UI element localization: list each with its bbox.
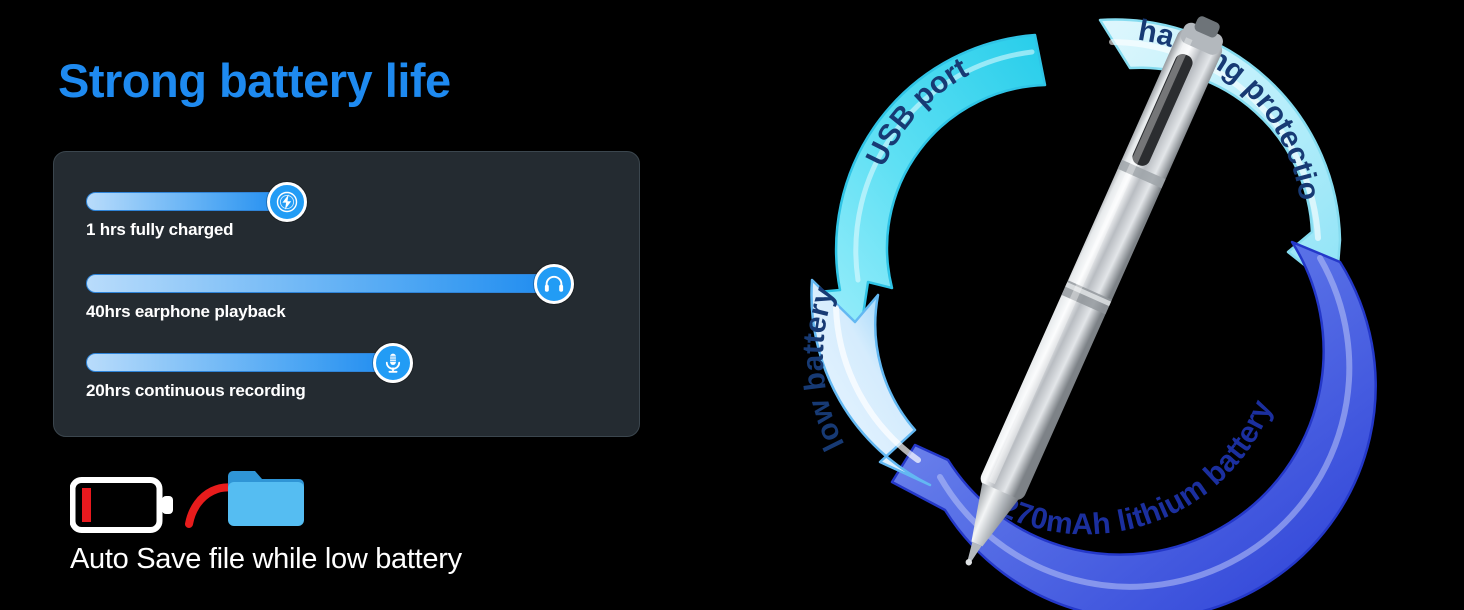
low-battery-segment: low battery — [797, 280, 930, 485]
poster-canvas: Strong battery life 1 hrs fully charged — [0, 0, 1464, 600]
slider-track-fully-charged[interactable] — [86, 192, 286, 211]
folder-icon — [226, 466, 306, 537]
charging-protection-label: charging protection — [740, 0, 1326, 203]
page-title: Strong battery life — [58, 55, 451, 107]
battery-cycle-diagram: USB port charging protection 270mAh lith… — [740, 0, 1440, 610]
slider-row-continuous-recording: 20hrs continuous recording — [86, 353, 392, 401]
usb-port-segment: USB port — [818, 35, 1045, 335]
slider-row-earphone-playback: 40hrs earphone playback — [86, 274, 553, 322]
low-battery-icon — [70, 474, 180, 541]
charging-protection-segment: charging protection — [740, 0, 1340, 290]
slider-label-fully-charged: 1 hrs fully charged — [86, 220, 286, 240]
microphone-icon[interactable] — [373, 343, 413, 383]
headphones-icon[interactable] — [534, 264, 574, 304]
battery-spec-panel: 1 hrs fully charged 40hrs earphone playb… — [53, 151, 640, 437]
slider-label-earphone-playback: 40hrs earphone playback — [86, 302, 553, 322]
slider-label-continuous-recording: 20hrs continuous recording — [86, 381, 392, 401]
lithium-battery-segment: 270mAh lithium battery — [892, 242, 1376, 610]
auto-save-block: Auto Save file while low battery — [70, 468, 590, 588]
lightning-bolt-icon[interactable] — [267, 182, 307, 222]
auto-save-caption: Auto Save file while low battery — [70, 543, 462, 576]
slider-track-continuous-recording[interactable] — [86, 353, 392, 372]
slider-row-fully-charged: 1 hrs fully charged — [86, 192, 286, 240]
svg-text:charging protection: charging protection — [740, 0, 1326, 203]
slider-track-earphone-playback[interactable] — [86, 274, 553, 293]
